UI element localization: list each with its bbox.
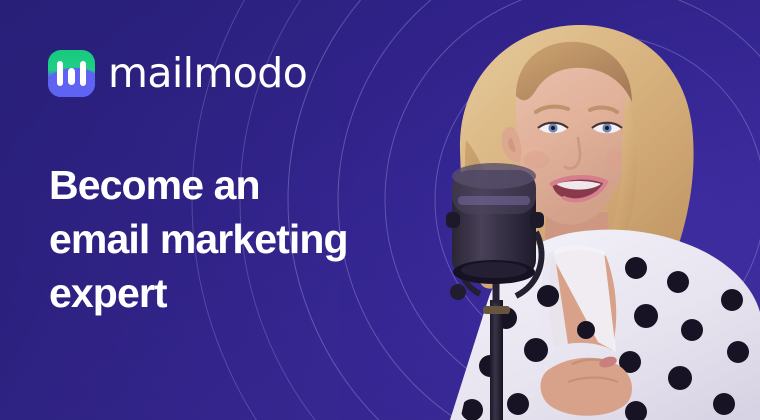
promo-banner: mailmodo Become an email marketing exper… [0, 0, 760, 420]
headline-line-2: email marketing [49, 212, 348, 266]
icon-bar-3 [80, 61, 87, 86]
mailmodo-bars-icon [48, 50, 95, 97]
headline-line-1: Become an [49, 158, 348, 212]
headline-line-3: expert [49, 266, 348, 320]
icon-bar-2 [68, 68, 75, 85]
icon-bar-1 [57, 61, 64, 86]
speaker-photo [340, 0, 760, 420]
mailmodo-wordmark: mailmodo [108, 53, 307, 94]
mailmodo-logo[interactable]: mailmodo [48, 50, 307, 97]
icon-bars [48, 50, 95, 97]
headline: Become an email marketing expert [49, 158, 348, 320]
